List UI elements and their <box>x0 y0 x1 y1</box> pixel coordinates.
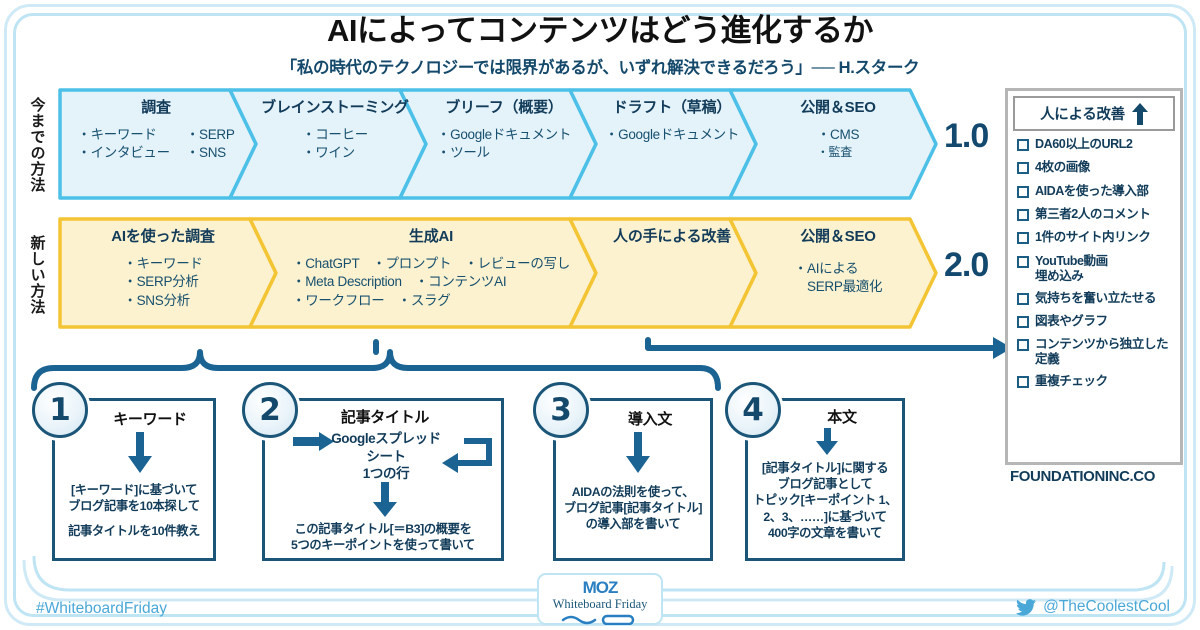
version-label-1: 1.0 <box>944 117 988 156</box>
step-2-loopback-arrow-icon <box>442 435 500 477</box>
step-1-down-arrow-icon <box>126 432 154 474</box>
step-3-prompt-text: AIDAの法則を使って、ブログ記事[記事タイトル]の導入部を書いて <box>555 484 711 533</box>
checklist-item[interactable]: コンテンツから独立した定義 <box>1017 337 1171 367</box>
human-improvement-checklist[interactable]: 人による改善 DA60以上のURL24枚の画像AIDAを使った導入部第三者2人の… <box>1005 88 1183 465</box>
flow-cell-title: 公開＆SEO <box>748 96 928 117</box>
flow-cell-col: ・Googleドキュメント <box>605 126 739 144</box>
flow-cell-item: ・SNS <box>186 144 235 162</box>
step-2-down-arrow-icon <box>372 482 400 518</box>
flow-cell-item: ・Googleドキュメント <box>605 126 739 144</box>
checklist-item-label: 4枚の画像 <box>1035 160 1090 175</box>
flow-cell-item: ・ワークフロー ・スラグ <box>292 292 570 310</box>
flow-cell-col: ・キーワード ・SERP分析 ・SNS分析 <box>123 255 202 310</box>
version-label-2: 2.0 <box>944 246 988 285</box>
step-4-badge: 4 <box>725 382 781 438</box>
checklist-item-label: 気持ちを奮い立たせる <box>1035 291 1156 306</box>
flow-cell-item: ・SERP <box>186 126 235 144</box>
flow-cell-new-1: 生成AI ・ChatGPT ・プロンプト ・レビューの写し ・Meta Desc… <box>272 217 590 329</box>
flow-cell-title: AIを使った調査 <box>58 225 268 246</box>
flow-cell-body: ・AIによる SERP最適化 <box>748 260 928 297</box>
row-label-new-method: 新しい方法 <box>20 220 54 330</box>
marker-doodle-icon <box>561 613 639 625</box>
checkbox-icon[interactable] <box>1017 162 1029 174</box>
header: AIによってコンテンツはどう進化するか 「私の時代のテクノロジーでは限界があるが… <box>0 14 1200 78</box>
step-4-heading: 本文 <box>782 406 902 427</box>
checklist-item[interactable]: 図表やグラフ <box>1017 314 1171 329</box>
flow-cell-body: ・キーワード ・インタビュー ・SERP ・SNS <box>58 126 254 163</box>
flow-cell-col: ・キーワード ・インタビュー <box>77 126 169 163</box>
checkbox-icon[interactable] <box>1017 186 1029 198</box>
flow-cell-body: ・Googleドキュメント ・ツール <box>414 126 594 163</box>
flow-cell-title: ドラフト（草稿） <box>582 96 762 117</box>
flow-cell-col: ・Googleドキュメント ・ツール <box>437 126 571 163</box>
flow-cell-title: 調査 <box>58 96 254 117</box>
flow-cell-item: ・CMS <box>817 126 859 144</box>
checklist-item-label: 重複チェック <box>1035 374 1108 389</box>
checklist-item-label: AIDAを使った導入部 <box>1035 184 1148 199</box>
flow-cell-body: ・CMS ・監査 <box>748 126 928 161</box>
flow-cell-title: ブリーフ（概要） <box>414 96 594 117</box>
flow-cell-item: ・キーワード <box>77 126 169 144</box>
moz-whiteboard-friday-logo: MOZ Whiteboard Friday <box>537 573 663 625</box>
row-label-old-method: 今までの方法 <box>20 90 54 200</box>
flow-cell-col: ・ChatGPT ・プロンプト ・レビューの写し ・Meta Descripti… <box>292 255 570 310</box>
hashtag-label: #WhiteboardFriday <box>36 600 167 618</box>
twitter-handle-label: @TheCoolestCool <box>1043 598 1170 616</box>
step-1-heading: キーワード <box>90 408 210 429</box>
flow-cell-item: ・SNS分析 <box>123 292 202 310</box>
flow-cell-item: ・ツール <box>437 144 571 162</box>
flow-cell-col: ・CMS ・監査 <box>817 126 859 161</box>
checkbox-icon[interactable] <box>1017 293 1029 305</box>
checklist-item[interactable]: 1件のサイト内リンク <box>1017 230 1171 245</box>
checklist-item[interactable]: 気持ちを奮い立たせる <box>1017 291 1171 306</box>
step-3-down-arrow-icon <box>624 432 652 474</box>
step-4-down-arrow-icon <box>816 428 840 456</box>
step-3-badge: 3 <box>533 382 589 438</box>
step-2-badge: 2 <box>242 382 298 438</box>
page-subtitle: 「私の時代のテクノロジーでは限界があるが、いずれ解決できるだろう」── H.スタ… <box>0 54 1200 78</box>
step-1-badge: 1 <box>32 382 88 438</box>
step-2-heading: 記事タイトル <box>290 406 480 427</box>
flow-cell-item: ・ワイン <box>302 144 368 162</box>
checkbox-icon[interactable] <box>1017 139 1029 151</box>
checklist-header: 人による改善 <box>1013 96 1175 131</box>
flow-cell-item: ・Googleドキュメント <box>437 126 571 144</box>
page-title: AIによってコンテンツはどう進化するか <box>0 14 1200 49</box>
checklist-item-label: DA60以上のURL2 <box>1035 137 1132 152</box>
steps-group-brace <box>34 352 718 388</box>
checklist-item[interactable]: DA60以上のURL2 <box>1017 137 1171 152</box>
up-arrow-icon <box>1132 103 1148 125</box>
flow-cell-item: ・キーワード <box>123 255 202 273</box>
step-1-prompt-text: [キーワード]に基づいてブログ記事を10本探して記事タイトルを10件教え <box>56 482 212 540</box>
moz-wordmark: MOZ <box>539 578 661 598</box>
flow-cell-title: 公開＆SEO <box>748 225 928 246</box>
flow-cell-item: SERP最適化 <box>794 278 882 296</box>
checklist-header-label: 人による改善 <box>1040 103 1125 124</box>
checklist-item[interactable]: 4枚の画像 <box>1017 160 1171 175</box>
flow-old-cells: 調査 ・キーワード ・インタビュー ・SERP ・SNS ブ <box>58 88 938 200</box>
flow-cell-item: ・ChatGPT ・プロンプト ・レビューの写し <box>292 255 570 273</box>
checklist-item[interactable]: AIDAを使った導入部 <box>1017 184 1171 199</box>
twitter-handle[interactable]: @TheCoolestCool <box>1016 598 1170 616</box>
twitter-bird-icon <box>1016 599 1036 616</box>
flow-old-method: 調査 ・キーワード ・インタビュー ・SERP ・SNS ブ <box>58 88 938 200</box>
infographic-canvas: AIによってコンテンツはどう進化するか 「私の時代のテクノロジーでは限界があるが… <box>0 0 1200 630</box>
human-edit-to-checklist-arrow <box>648 340 995 348</box>
checklist-item-label: 図表やグラフ <box>1035 314 1108 329</box>
flow-cell-new-2: 人の手による改善 <box>582 217 762 329</box>
flow-cell-item: ・SERP分析 <box>123 273 202 291</box>
checklist-items: DA60以上のURL24枚の画像AIDAを使った導入部第三者2人のコメント1件の… <box>1013 131 1175 389</box>
flow-new-cells: AIを使った調査 ・キーワード ・SERP分析 ・SNS分析 生成AI ・Cha… <box>58 217 938 329</box>
checklist-item[interactable]: YouTube動画埋め込み <box>1017 254 1171 284</box>
flow-new-method: AIを使った調査 ・キーワード ・SERP分析 ・SNS分析 生成AI ・Cha… <box>58 217 938 329</box>
checklist-item[interactable]: 第三者2人のコメント <box>1017 207 1171 222</box>
step-4-prompt-text: [記事タイトル]に関するブログ記事としてトピック[キーポイント 1、2、3、……… <box>747 460 903 541</box>
flow-cell-old-3: ドラフト（草稿） ・Googleドキュメント <box>582 88 762 200</box>
flow-cell-body: ・ChatGPT ・プロンプト ・レビューの写し ・Meta Descripti… <box>272 255 590 310</box>
checklist-item[interactable]: 重複チェック <box>1017 374 1171 389</box>
flow-cell-col: ・SERP ・SNS <box>186 126 235 163</box>
step-3-heading: 導入文 <box>590 408 710 429</box>
checkbox-icon[interactable] <box>1017 209 1029 221</box>
flow-cell-old-2: ブリーフ（概要） ・Googleドキュメント ・ツール <box>414 88 594 200</box>
flow-cell-item: ・AIによる <box>794 260 882 278</box>
flow-cell-body: ・Googleドキュメント <box>582 126 762 144</box>
flow-cell-title: 生成AI <box>272 225 590 246</box>
flow-cell-old-1: ブレインストーミング ・コーヒー ・ワイン <box>240 88 430 200</box>
checkbox-icon[interactable] <box>1017 232 1029 244</box>
step-2-middle-text: Googleスプレッドシート1つの行 <box>322 430 450 483</box>
flow-cell-body: ・キーワード ・SERP分析 ・SNS分析 <box>58 255 268 310</box>
flow-cell-old-4: 公開＆SEO ・CMS ・監査 <box>748 88 928 200</box>
checkbox-icon[interactable] <box>1017 256 1029 268</box>
flow-cell-item: ・Meta Description ・コンテンツAI <box>292 273 570 291</box>
checklist-item-label: 第三者2人のコメント <box>1035 207 1150 222</box>
flow-cell-body: ・コーヒー ・ワイン <box>240 126 430 163</box>
flow-cell-title: 人の手による改善 <box>582 225 762 246</box>
checklist-item-label: 1件のサイト内リンク <box>1035 230 1150 245</box>
flow-cell-title: ブレインストーミング <box>240 96 430 117</box>
flow-cell-item: ・監査 <box>817 144 859 160</box>
step-2-prompt-text: この記事タイトル[＝B3]の概要を5つのキーポイントを使って書いて <box>264 521 502 553</box>
flow-cell-col: ・コーヒー ・ワイン <box>302 126 368 163</box>
moz-tagline: Whiteboard Friday <box>539 597 661 612</box>
flow-cell-old-0: 調査 ・キーワード ・インタビュー ・SERP ・SNS <box>58 88 254 200</box>
brand-attribution: FOUNDATIONINC.CO <box>1010 468 1155 485</box>
flow-cell-item: ・インタビュー <box>77 144 169 162</box>
checklist-item-label: コンテンツから独立した定義 <box>1035 337 1168 367</box>
flow-cell-item: ・コーヒー <box>302 126 368 144</box>
checkbox-icon[interactable] <box>1017 316 1029 328</box>
flow-cell-new-0: AIを使った調査 ・キーワード ・SERP分析 ・SNS分析 <box>58 217 268 329</box>
checkbox-icon[interactable] <box>1017 339 1029 351</box>
checkbox-icon[interactable] <box>1017 376 1029 388</box>
flow-cell-new-3: 公開＆SEO ・AIによる SERP最適化 <box>748 217 928 329</box>
checklist-item-label: YouTube動画埋め込み <box>1035 254 1108 284</box>
flow-cell-col: ・AIによる SERP最適化 <box>794 260 882 297</box>
